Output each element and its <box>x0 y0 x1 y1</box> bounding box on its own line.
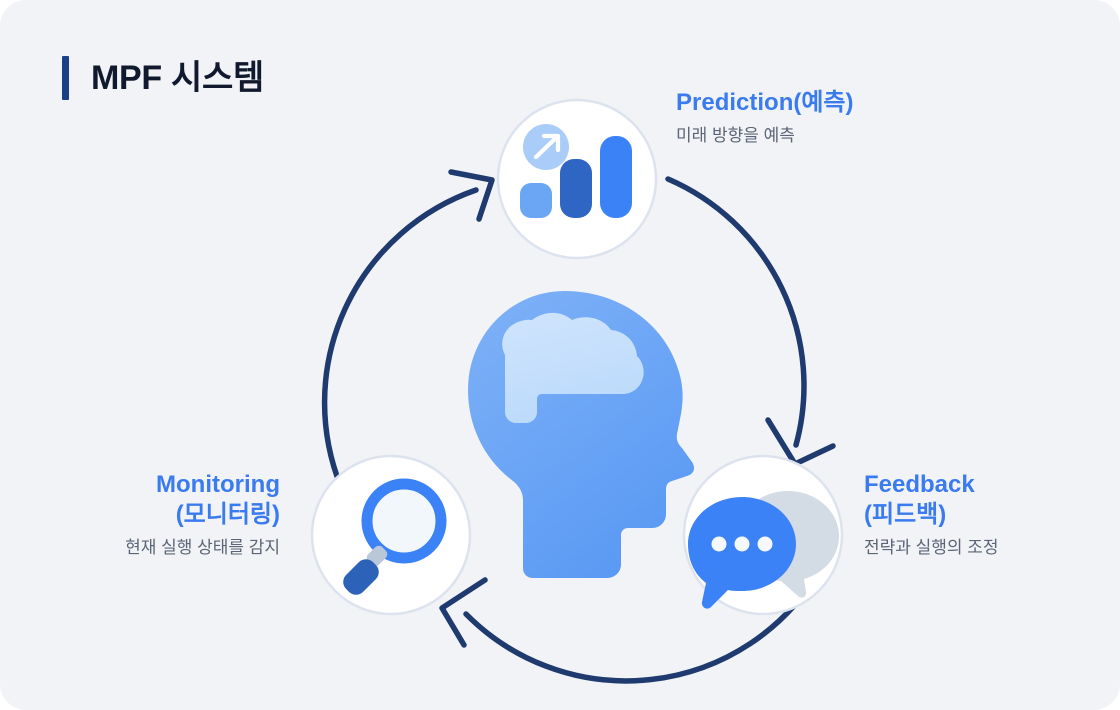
node-feedback[interactable] <box>684 456 842 614</box>
diagram-card: MPF 시스템 <box>0 0 1120 710</box>
chat-dot-2 <box>735 537 750 552</box>
label-feedback-subtitle: 전략과 실행의 조정 <box>864 535 999 561</box>
bar-medium <box>560 159 592 218</box>
label-feedback: Feedback (피드백) 전략과 실행의 조정 <box>864 470 999 561</box>
arrow-prediction-to-feedback <box>668 179 804 445</box>
label-prediction-subtitle: 미래 방향을 예측 <box>676 123 854 149</box>
bar-large <box>600 136 632 218</box>
head-brain-icon <box>468 291 694 578</box>
label-feedback-title-line2: (피드백) <box>864 500 999 530</box>
label-monitoring: Monitoring (모니터링) 현재 실행 상태를 감지 <box>125 470 280 561</box>
node-monitoring[interactable] <box>312 456 470 614</box>
node-prediction[interactable] <box>498 100 656 258</box>
label-monitoring-title: Monitoring <box>125 470 280 500</box>
label-feedback-title: Feedback <box>864 470 999 500</box>
chat-dot-1 <box>712 537 727 552</box>
chat-dot-3 <box>758 537 773 552</box>
label-prediction: Prediction(예측) 미래 방향을 예측 <box>676 88 854 149</box>
bar-small <box>520 183 552 218</box>
arrow-monitoring-to-prediction <box>325 190 476 487</box>
label-prediction-title: Prediction(예측) <box>676 88 854 118</box>
label-monitoring-title-line2: (모니터링) <box>125 500 280 530</box>
cycle-diagram <box>0 0 1120 710</box>
label-monitoring-subtitle: 현재 실행 상태를 감지 <box>125 535 280 561</box>
